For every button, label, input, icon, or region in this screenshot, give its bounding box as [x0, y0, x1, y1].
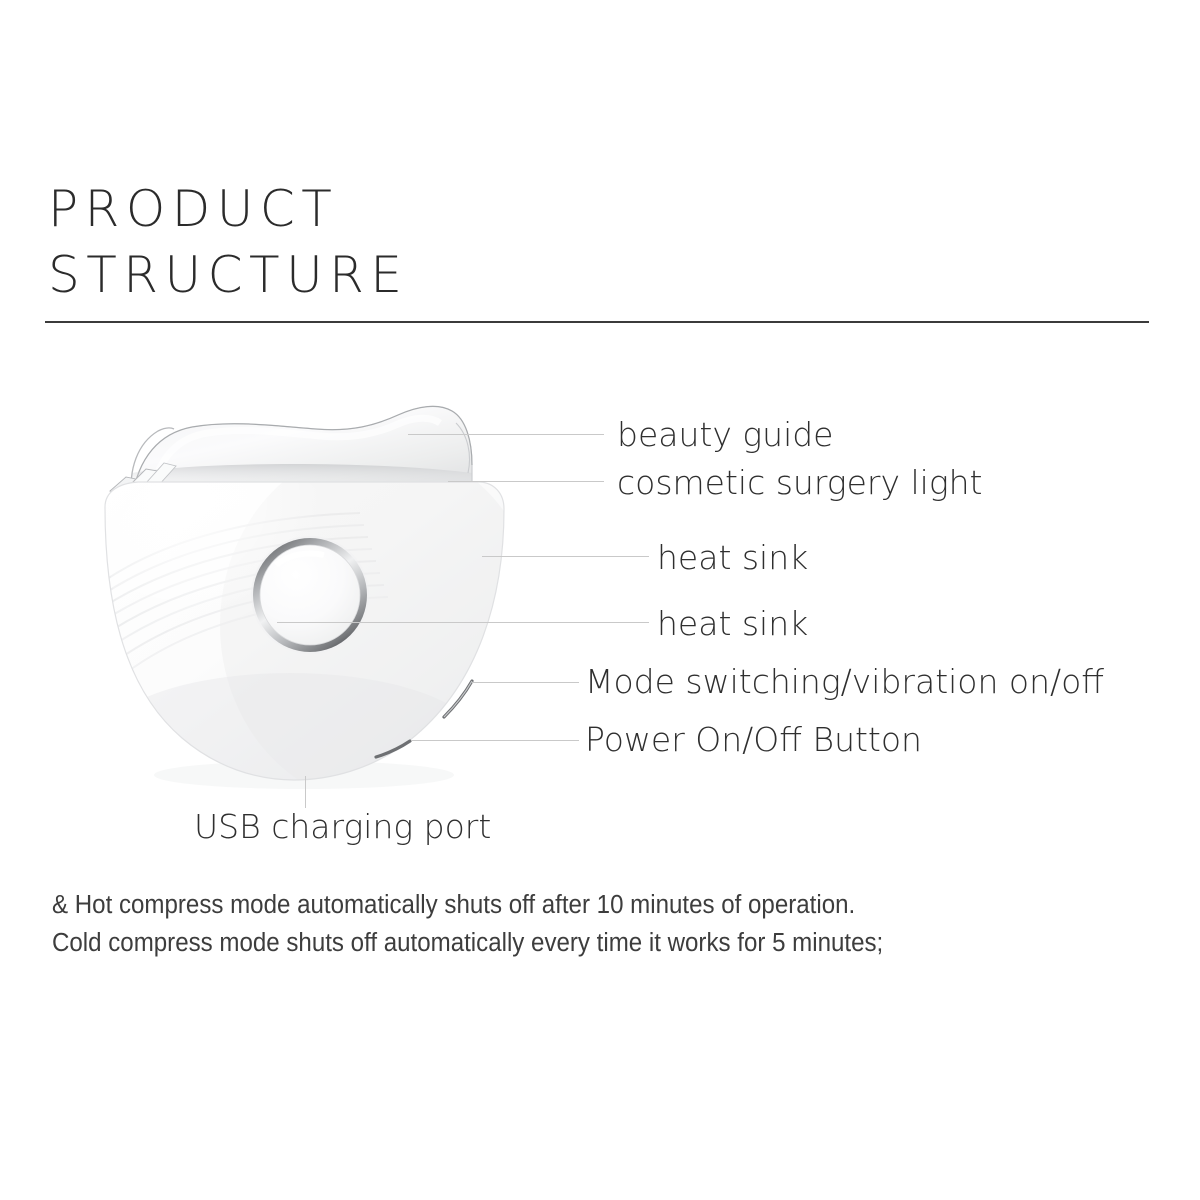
callout-beauty-guide: beauty guide [617, 418, 833, 451]
callout-usb-charging-port: USB charging port [194, 810, 491, 843]
leader-heat-sink-lower [277, 622, 649, 623]
footer-line-1: & Hot compress mode automatically shuts … [52, 886, 1101, 924]
product-illustration [80, 395, 530, 795]
title-divider [45, 321, 1149, 323]
leader-cosmetic-surgery-light [448, 481, 604, 482]
footer-line-2: Cold compress mode shuts off automatical… [52, 924, 1101, 962]
leader-power-button [411, 740, 579, 741]
callout-heat-sink-upper: heat sink [657, 541, 808, 574]
leader-beauty-guide [408, 434, 604, 435]
callout-mode-switching: Mode switching/vibration on/off [585, 665, 1104, 698]
product-structure-page: PRODUCT STRUCTURE [0, 0, 1200, 1200]
page-title-line-1: PRODUCT [48, 176, 409, 242]
callout-power-button: Power On/Off Button [585, 723, 922, 756]
center-button [251, 536, 369, 654]
leader-mode-switching [472, 682, 579, 683]
page-title: PRODUCT STRUCTURE [48, 176, 409, 308]
callout-heat-sink-lower: heat sink [657, 607, 808, 640]
leader-heat-sink-upper [482, 556, 649, 557]
callout-cosmetic-surgery-light: cosmetic surgery light [617, 466, 983, 499]
page-title-line-2: STRUCTURE [48, 242, 409, 308]
leader-usb-charging-port [305, 776, 306, 808]
footer-note: & Hot compress mode automatically shuts … [52, 886, 1162, 962]
